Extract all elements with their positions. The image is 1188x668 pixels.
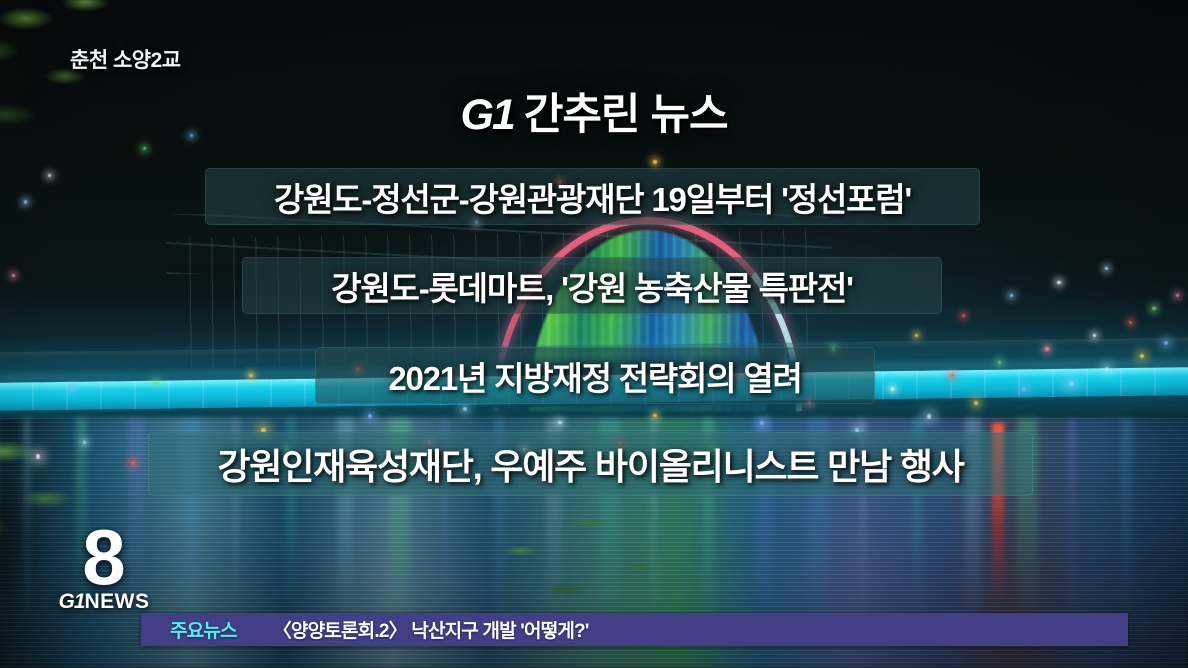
headline-item-1[interactable]: 강원도-정선군-강원관광재단 19일부터 '정선포럼'	[205, 168, 980, 225]
program-title-text: 간추린 뉴스	[524, 91, 728, 139]
channel-logo-wordmark: G1NEWS	[48, 590, 160, 614]
program-title-logo: G1	[460, 91, 513, 139]
headline-item-2[interactable]: 강원도-롯데마트, '강원 농축산물 특판전'	[242, 257, 942, 314]
headline-item-3[interactable]: 2021년 지방재정 전략회의 열려	[315, 347, 875, 404]
ticker-headline-text: 〈양양토론회.2〉 낙산지구 개발 '어떻게?'	[273, 616, 589, 643]
location-label: 춘천 소양2교	[70, 44, 181, 74]
channel-logo-g1: G1	[58, 590, 84, 613]
ticker-category-label: 주요뉴스	[141, 616, 237, 643]
program-title: G1간추린 뉴스	[0, 80, 1188, 142]
broadcast-screen: 춘천 소양2교 G1간추린 뉴스 강원도-정선군-강원관광재단 19일부터 '정…	[0, 0, 1188, 668]
news-ticker-bar[interactable]: 주요뉴스 〈양양토론회.2〉 낙산지구 개발 '어떻게?'	[141, 613, 1128, 646]
headline-item-4[interactable]: 강원인재육성재단, 우예주 바이올리니스트 만남 행사	[148, 432, 1033, 496]
channel-logo-number: 8	[48, 520, 160, 594]
channel-logo-news: NEWS	[85, 590, 150, 613]
